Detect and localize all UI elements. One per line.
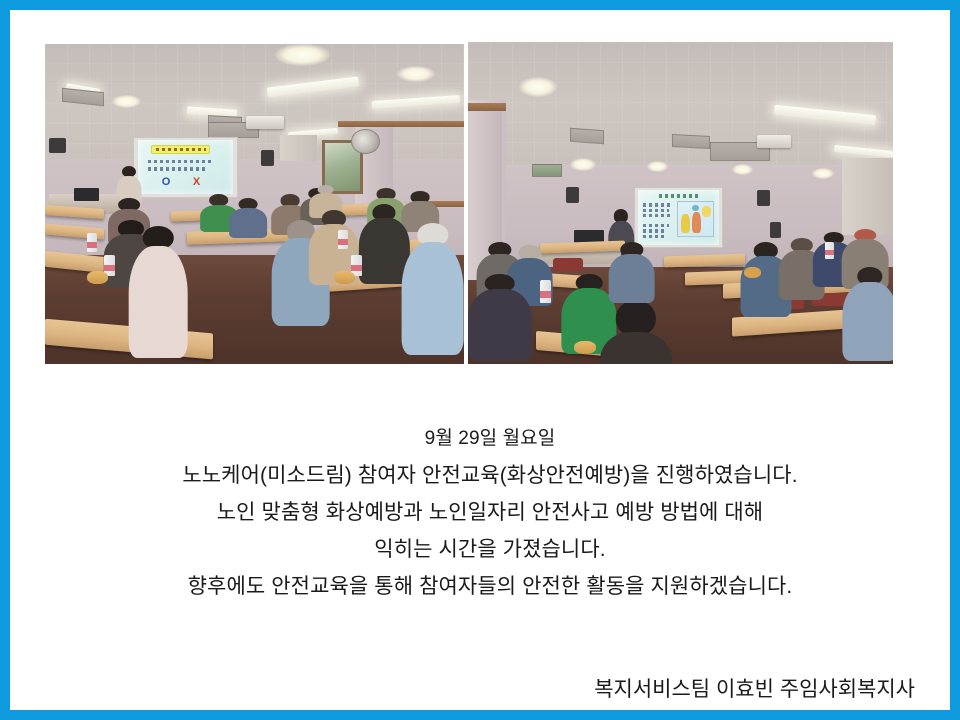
participant-body [842, 282, 893, 361]
participant [129, 226, 188, 354]
projection-screen: O X [133, 137, 238, 198]
slide-text-line [643, 224, 669, 227]
laptop [74, 188, 99, 201]
wall-speaker [770, 222, 781, 238]
caption-line-3: 노인 맞춤형 화상예방과 노인일자리 안전사고 예방 방법에 대해 [20, 494, 960, 531]
slide-title-highlight [151, 145, 210, 154]
participant [608, 242, 655, 300]
wall-speaker [261, 150, 274, 166]
ceiling-downlight [812, 168, 833, 179]
participant-body [229, 208, 267, 238]
chair [553, 258, 583, 271]
caption-line-5: 향후에도 안전교육을 통해 참여자들의 안전한 활동을 지원하겠습니다. [20, 568, 960, 605]
illustration-figure [692, 212, 701, 233]
participant-body [468, 289, 532, 361]
slide-content: O X [138, 140, 233, 194]
photo-classroom-instructor-view [468, 42, 893, 364]
participant [468, 274, 532, 358]
slide-content [638, 190, 718, 244]
water-bottle [338, 230, 348, 249]
photo-classroom-rear-view: O X [45, 44, 464, 364]
slide-text-line [643, 214, 672, 217]
wall-speaker [566, 187, 579, 203]
slide-text-line [643, 209, 669, 212]
ceiling-downlight [570, 158, 596, 171]
ceiling-projector [757, 135, 791, 148]
wall-trim [338, 121, 464, 127]
desk [664, 253, 745, 267]
slide-text-line [643, 229, 667, 232]
wall-trim [468, 103, 506, 111]
projection-screen [634, 187, 723, 248]
slide-text-line [643, 235, 665, 238]
signature-line: 복지서비스팀 이효빈 주임사회복지사 [594, 673, 915, 703]
slide-answer-x: X [193, 177, 200, 188]
slide-answer-o: O [162, 177, 171, 188]
slide-illustration [677, 201, 714, 237]
illustration-figure [702, 206, 710, 218]
ceiling-projector [246, 116, 284, 129]
caption-line-1: 9월 29일 월요일 [20, 420, 960, 457]
wall-vent [532, 164, 562, 177]
classroom-scene-right [468, 42, 893, 364]
participant-body [401, 242, 464, 355]
water-bottle [825, 242, 834, 260]
participant [600, 300, 672, 364]
participant [229, 198, 267, 236]
participant-body [129, 246, 188, 359]
participant-body [608, 254, 655, 303]
snack-bread [87, 271, 108, 284]
slide-text-line [148, 160, 212, 164]
water-bottle [87, 233, 97, 252]
slide-text-line [148, 167, 209, 171]
window-blinds [842, 158, 893, 235]
participant-head [616, 300, 656, 336]
ceiling-downlight [519, 77, 557, 96]
document-page: O X [0, 0, 960, 720]
wall-speaker [757, 190, 770, 206]
water-bottle [540, 280, 551, 303]
snack-bread [574, 341, 595, 354]
participant [842, 267, 893, 357]
caption-line-2: 노노케어(미소드림) 참여자 안전교육(화상안전예방)을 진행하였습니다. [20, 457, 960, 494]
document-canvas: O X [10, 10, 950, 710]
illustration-figure [692, 205, 698, 211]
caption-line-4: 익히는 시간을 가졌습니다. [20, 531, 960, 568]
classroom-scene-left: O X [45, 44, 464, 364]
participant-body [600, 332, 672, 364]
participant [401, 223, 464, 351]
wall-speaker [49, 138, 66, 152]
ceiling-vent [570, 128, 604, 145]
illustration-figure [681, 214, 690, 233]
ceiling-downlight [647, 161, 668, 172]
caption-block: 9월 29일 월요일 노노케어(미소드림) 참여자 안전교육(화상안전예방)을 … [20, 420, 960, 605]
ceiling-vent [672, 134, 710, 149]
slide-title-text [659, 194, 698, 198]
window-curtain [280, 135, 318, 161]
snack-bread [334, 271, 355, 284]
slide-text-line [643, 203, 670, 206]
